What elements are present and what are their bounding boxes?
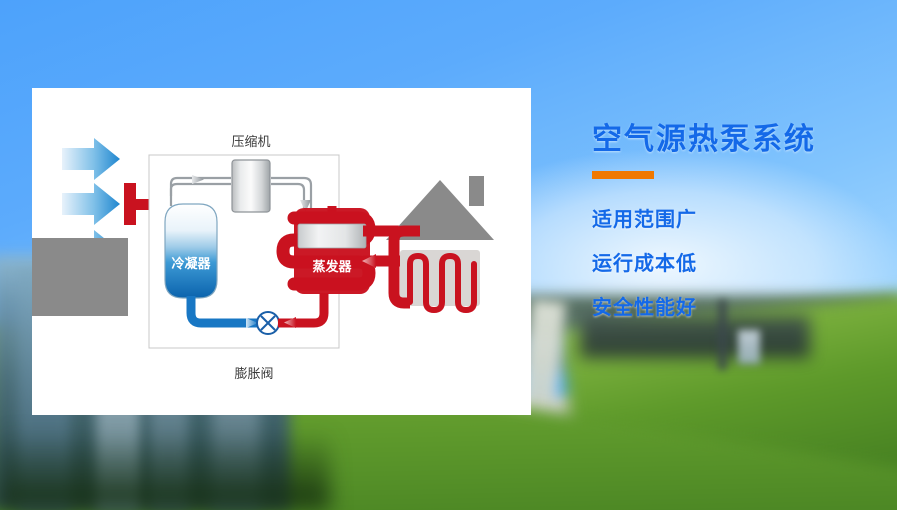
background-structure — [580, 316, 810, 358]
condenser-label: 冷凝器 — [171, 256, 211, 271]
condenser-tank-icon — [165, 204, 217, 298]
valve-cross-circle-icon — [257, 312, 279, 334]
background-sign — [738, 330, 760, 364]
page-title: 空气源热泵系统 — [592, 122, 892, 158]
compressor-cylinder-icon — [232, 160, 270, 212]
evaporator-label: 蒸发器 — [312, 259, 352, 274]
compressor-label: 压缩机 — [231, 134, 270, 149]
headline-block: 空气源热泵系统 适用范围广 运行成本低 安全性能好 — [592, 122, 892, 320]
evaporator-coil-icon — [283, 206, 370, 294]
slide-canvas: 压缩机 冷凝器 膨胀阀 — [0, 0, 897, 510]
feature-list: 适用范围广 运行成本低 安全性能好 — [592, 203, 892, 320]
feature-item-1: 适用范围广 — [592, 203, 892, 232]
background-vignette — [0, 430, 330, 510]
feature-item-3: 安全性能好 — [592, 291, 892, 320]
air-arrow-1 — [62, 138, 120, 180]
air-arrow-2 — [62, 183, 120, 225]
diagram-card: 压缩机 冷凝器 膨胀阀 — [32, 88, 531, 415]
expansion-valve-label: 膨胀阀 — [234, 366, 273, 381]
heat-pump-schematic: 压缩机 冷凝器 膨胀阀 — [32, 88, 531, 415]
accent-bar — [592, 171, 654, 179]
feature-item-2: 运行成本低 — [592, 247, 892, 276]
